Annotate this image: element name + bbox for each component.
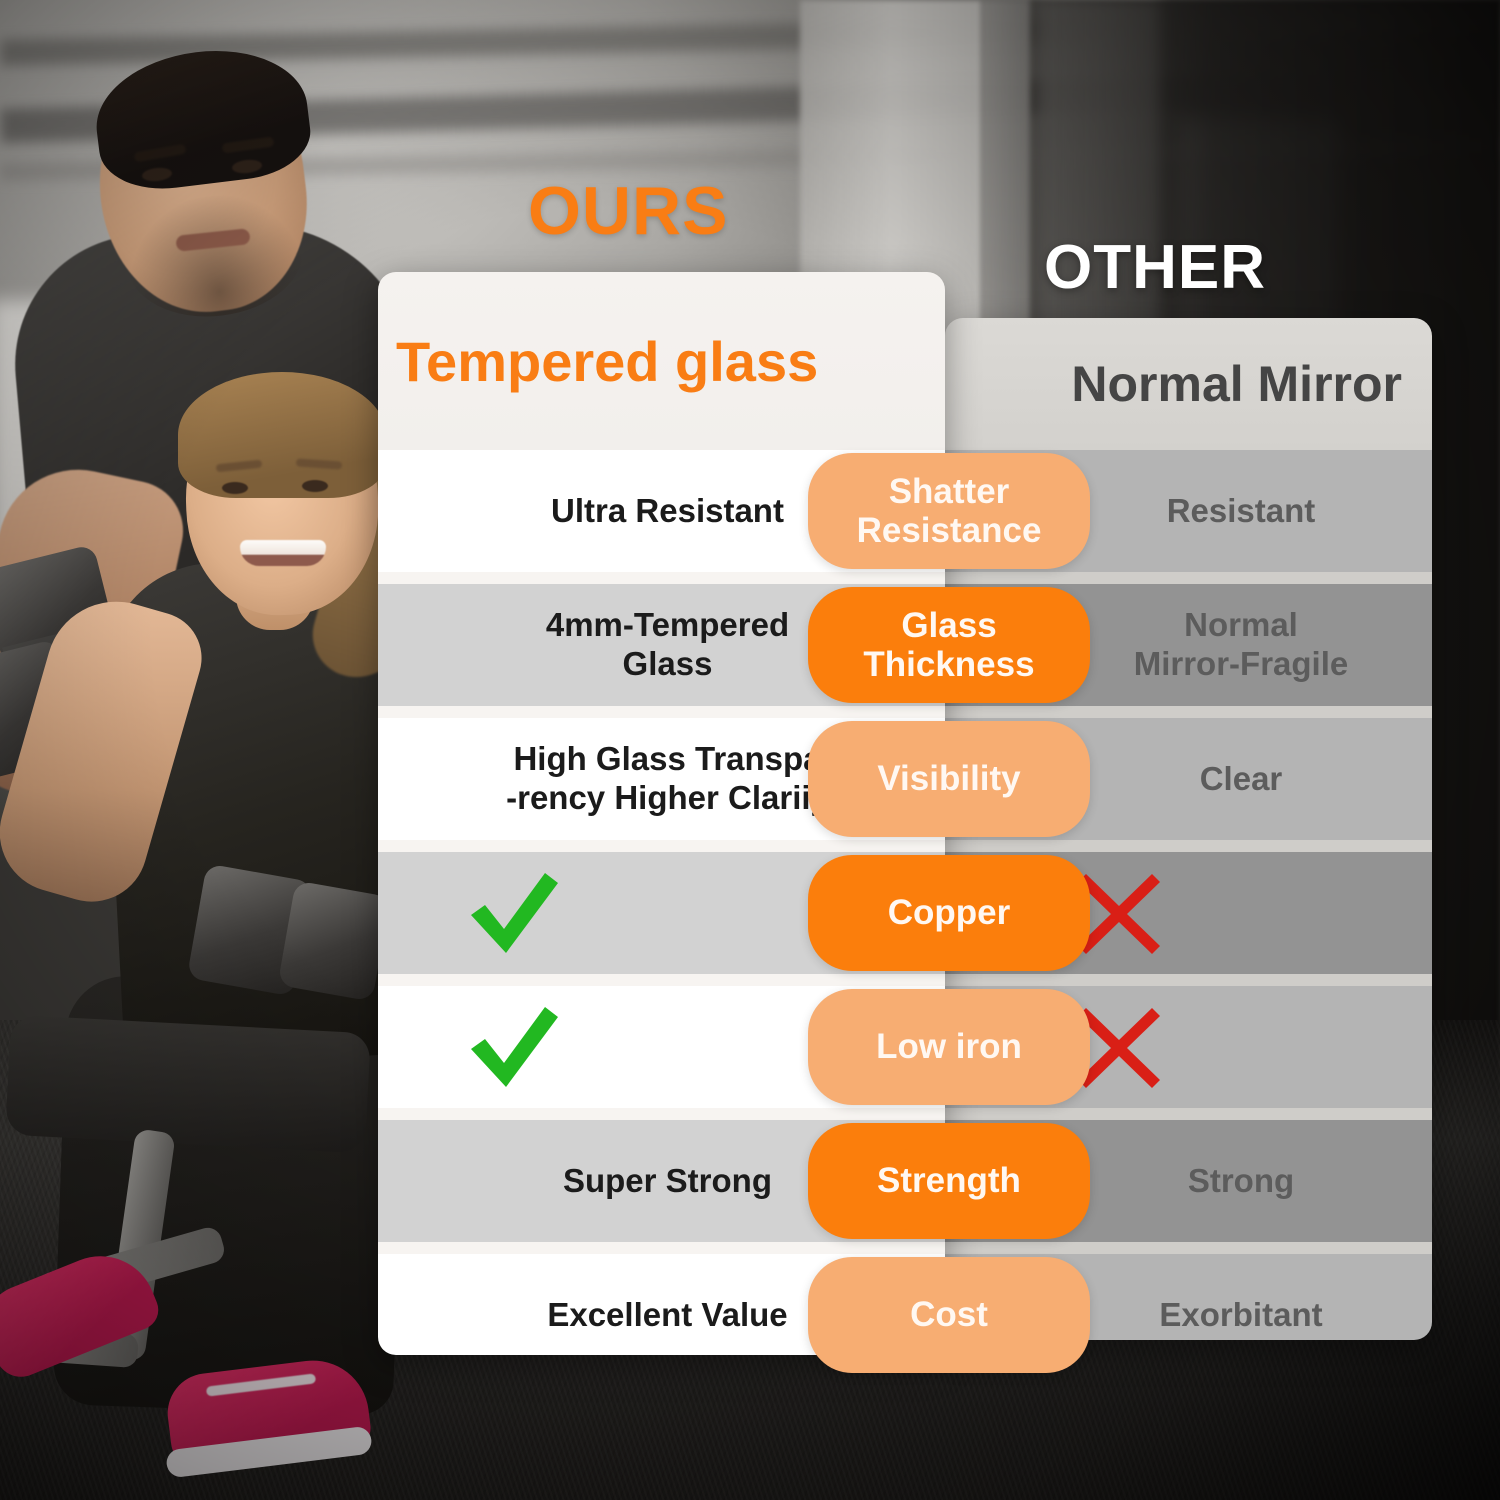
feature-pill[interactable]: Cost [808,1257,1090,1373]
row-divider [378,572,945,584]
check-icon [463,867,563,959]
feature-pill[interactable]: Strength [808,1123,1090,1239]
other-cell-value: NormalMirror-Fragile [1076,606,1406,684]
feature-pill[interactable]: Copper [808,855,1090,971]
feature-pill[interactable]: Low iron [808,989,1090,1105]
feature-pill-label: Low iron [876,1027,1022,1066]
row-divider [945,1108,1432,1120]
row-divider [945,572,1432,584]
row-divider [378,1108,945,1120]
row-divider [378,974,945,986]
row-divider [945,706,1432,718]
feature-pill-label: Strength [877,1161,1021,1200]
feature-pill-label: Copper [888,893,1011,932]
feature-pill[interactable]: ShatterResistance [808,453,1090,569]
other-cell-value: Clear [1076,760,1406,799]
row-divider [378,840,945,852]
other-card-header: Normal Mirror [945,318,1432,450]
other-heading: OTHER [1044,232,1266,303]
feature-pill[interactable]: GlassThickness [808,587,1090,703]
feature-pill-label: Visibility [877,759,1020,798]
feature-pill-label: ShatterResistance [857,472,1042,550]
row-divider [945,1242,1432,1254]
feature-pill-label: Cost [910,1295,988,1334]
other-cell-value [1076,1004,1406,1090]
row-divider [945,974,1432,986]
ours-heading: OURS [528,172,728,250]
row-divider [378,706,945,718]
other-card-title: Normal Mirror [1071,355,1402,413]
row-divider [945,840,1432,852]
ours-card-title: Tempered glass [396,329,818,394]
other-cell-value: Strong [1076,1162,1406,1201]
other-cell-value [1076,870,1406,956]
ours-card-header: Tempered glass [378,272,945,450]
other-cell-value: Resistant [1076,492,1406,531]
feature-pill[interactable]: Visibility [808,721,1090,837]
feature-pill-label: GlassThickness [863,606,1034,684]
row-divider [378,1242,945,1254]
other-cell-value: Exorbitant [1076,1296,1406,1335]
check-icon [463,1001,563,1093]
